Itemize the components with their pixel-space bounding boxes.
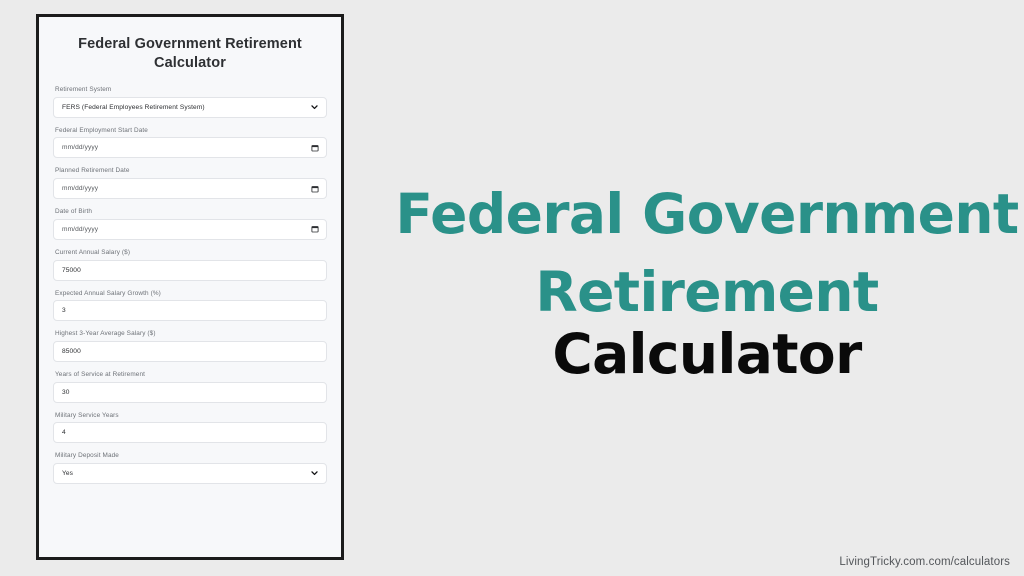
select-military-deposit-made[interactable]: Yes <box>53 463 327 484</box>
field-label-employment-start-date: Federal Employment Start Date <box>55 127 327 135</box>
number-input-years-of-service[interactable]: 30 <box>53 382 327 403</box>
number-input-military-service-years-value: 4 <box>62 429 318 436</box>
date-input-date-of-birth[interactable]: mm/dd/yyyy <box>53 219 327 240</box>
field-group-date-of-birth: Date of Birth mm/dd/yyyy <box>53 208 327 240</box>
field-label-current-annual-salary: Current Annual Salary ($) <box>55 249 327 257</box>
calendar-icon[interactable] <box>311 225 319 233</box>
date-input-employment-start-date-value: mm/dd/yyyy <box>62 144 318 151</box>
field-group-military-deposit-made: Military Deposit Made Yes <box>53 452 327 484</box>
number-input-salary-growth-value: 3 <box>62 307 318 314</box>
field-group-military-service-years: Military Service Years 4 <box>53 412 327 444</box>
hero-title-primary: Federal Government Retirement <box>390 175 1024 331</box>
number-input-years-of-service-value: 30 <box>62 389 318 396</box>
field-label-planned-retirement-date: Planned Retirement Date <box>55 167 327 175</box>
hero-section: Federal Government Retirement Calculator <box>390 0 1024 576</box>
footer-url: LivingTricky.com.com/calculators <box>839 556 1010 568</box>
field-group-high-three-salary: Highest 3-Year Average Salary ($) 85000 <box>53 330 327 362</box>
field-label-years-of-service: Years of Service at Retirement <box>55 371 327 379</box>
calculator-card-body: Federal Government Retirement Calculator… <box>39 17 341 557</box>
chevron-down-icon <box>310 469 319 478</box>
field-label-retirement-system: Retirement System <box>55 86 327 94</box>
hero-title-line-2: Retirement <box>390 253 1024 331</box>
number-input-salary-growth[interactable]: 3 <box>53 300 327 321</box>
hero-title-secondary: Calculator <box>390 322 1024 386</box>
date-input-planned-retirement-date-value: mm/dd/yyyy <box>62 185 318 192</box>
number-input-high-three-salary[interactable]: 85000 <box>53 341 327 362</box>
select-military-deposit-made-value: Yes <box>62 470 318 477</box>
calculator-card-frame: Federal Government Retirement Calculator… <box>36 14 344 560</box>
field-group-planned-retirement-date: Planned Retirement Date mm/dd/yyyy <box>53 167 327 199</box>
number-input-current-annual-salary[interactable]: 75000 <box>53 260 327 281</box>
field-label-salary-growth: Expected Annual Salary Growth (%) <box>55 290 327 298</box>
field-group-current-annual-salary: Current Annual Salary ($) 75000 <box>53 249 327 281</box>
field-group-employment-start-date: Federal Employment Start Date mm/dd/yyyy <box>53 127 327 159</box>
field-group-years-of-service: Years of Service at Retirement 30 <box>53 371 327 403</box>
field-label-military-service-years: Military Service Years <box>55 412 327 420</box>
chevron-down-icon <box>310 103 319 112</box>
field-label-date-of-birth: Date of Birth <box>55 208 327 216</box>
page-title: Federal Government Retirement Calculator <box>59 35 321 72</box>
number-input-current-annual-salary-value: 75000 <box>62 267 318 274</box>
date-input-date-of-birth-value: mm/dd/yyyy <box>62 226 318 233</box>
date-input-planned-retirement-date[interactable]: mm/dd/yyyy <box>53 178 327 199</box>
calendar-icon[interactable] <box>311 185 319 193</box>
number-input-military-service-years[interactable]: 4 <box>53 422 327 443</box>
calendar-icon[interactable] <box>311 144 319 152</box>
date-input-employment-start-date[interactable]: mm/dd/yyyy <box>53 137 327 158</box>
select-retirement-system[interactable]: FERS (Federal Employees Retirement Syste… <box>53 97 327 118</box>
hero-title-line-1: Federal Government <box>390 175 1024 253</box>
field-label-high-three-salary: Highest 3-Year Average Salary ($) <box>55 330 327 338</box>
number-input-high-three-salary-value: 85000 <box>62 348 318 355</box>
field-label-military-deposit-made: Military Deposit Made <box>55 452 327 460</box>
field-group-retirement-system: Retirement System FERS (Federal Employee… <box>53 86 327 118</box>
select-retirement-system-value: FERS (Federal Employees Retirement Syste… <box>62 104 318 111</box>
field-group-salary-growth: Expected Annual Salary Growth (%) 3 <box>53 290 327 322</box>
